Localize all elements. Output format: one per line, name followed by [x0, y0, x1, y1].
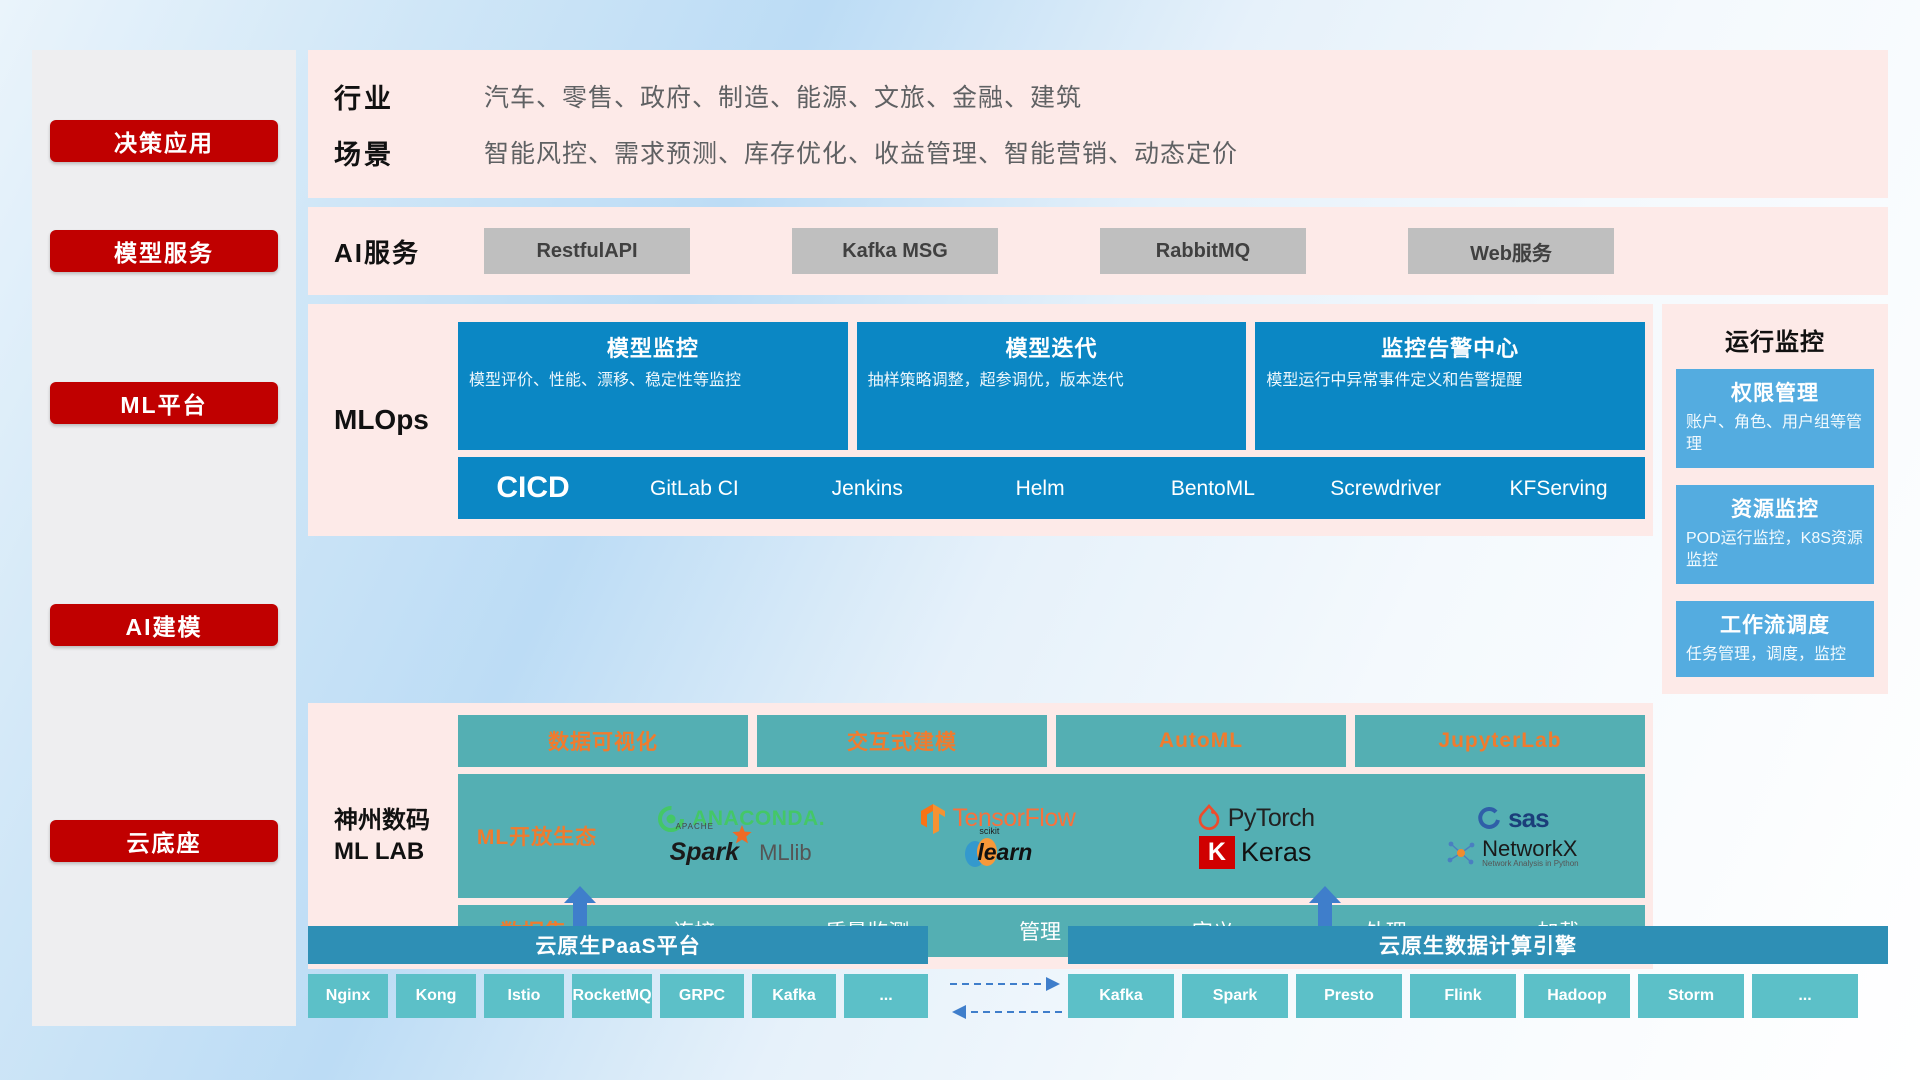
cicd-bar: CICD GitLab CI Jenkins Helm BentoML Scre…: [458, 457, 1645, 519]
mlops-band: MLOps 模型监控 模型评价、性能、漂移、稳定性等监控 模型迭代 抽样策略调整…: [308, 304, 1653, 536]
mlops-card-list: 模型监控 模型评价、性能、漂移、稳定性等监控 模型迭代 抽样策略调整，超参调优，…: [458, 322, 1645, 450]
stage-button-decision-app[interactable]: 决策应用: [50, 120, 278, 162]
sas-mark-icon: [1476, 806, 1502, 832]
runtime-monitor-rail: 运行监控 权限管理 账户、角色、用户组等管理 资源监控 POD运行监控，K8S资…: [1662, 304, 1888, 694]
scenario-row: 场景 智能风控、需求预测、库存优化、收益管理、智能营销、动态定价: [334, 124, 1862, 180]
monitor-card-resource[interactable]: 资源监控 POD运行监控，K8S资源监控: [1676, 485, 1874, 584]
paas-chip-grpc[interactable]: GRPC: [660, 974, 744, 1018]
engine-title-bar: 云原生数据计算引擎: [1068, 926, 1888, 964]
cicd-title: CICD: [458, 471, 608, 505]
tool-chip-data-visualization[interactable]: 数据可视化: [458, 715, 748, 767]
ml-platform-row: MLOps 模型监控 模型评价、性能、漂移、稳定性等监控 模型迭代 抽样策略调整…: [308, 304, 1888, 694]
mlops-card-alert-center[interactable]: 监控告警中心 模型运行中异常事件定义和告警提醒: [1255, 322, 1645, 450]
tensorflow-mark-icon: [920, 803, 946, 835]
mlops-content: 模型监控 模型评价、性能、漂移、稳定性等监控 模型迭代 抽样策略调整，超参调优，…: [458, 322, 1653, 519]
card-title: 权限管理: [1686, 377, 1864, 407]
cicd-item-jenkins[interactable]: Jenkins: [781, 476, 954, 499]
ml-lab-label: 神州数码 ML LAB: [308, 805, 458, 867]
cicd-item-kfserving[interactable]: KFServing: [1472, 476, 1645, 499]
sas-logo: sas: [1476, 803, 1548, 834]
tensorflow-wordmark: TensorFlow: [952, 804, 1075, 833]
industry-label: 行业: [334, 77, 484, 116]
runtime-monitor-title: 运行监控: [1662, 304, 1888, 369]
tool-chip-interactive-modeling[interactable]: 交互式建模: [757, 715, 1047, 767]
scenario-label: 场景: [334, 133, 484, 172]
card-desc: 模型评价、性能、漂移、稳定性等监控: [469, 370, 837, 393]
paas-chip-rocketmq[interactable]: RocketMQ: [572, 974, 652, 1018]
scenario-values: 智能风控、需求预测、库存优化、收益管理、智能营销、动态定价: [484, 134, 1238, 170]
card-title: 模型迭代: [868, 331, 1236, 363]
keras-wordmark: Keras: [1241, 837, 1312, 868]
paas-group: 云原生PaaS平台 Nginx Kong Istio RocketMQ GRPC…: [308, 926, 928, 1018]
decision-app-band: 行业 汽车、零售、政府、制造、能源、文旅、金融、建筑 场景 智能风控、需求预测、…: [308, 50, 1888, 198]
tool-chip-automl[interactable]: AutoML: [1056, 715, 1346, 767]
stage-button-ai-modeling[interactable]: AI建模: [50, 604, 278, 646]
stage-button-ml-platform[interactable]: ML平台: [50, 382, 278, 424]
ml-open-ecosystem-label: ML开放生态: [462, 821, 612, 851]
paas-up-arrow-icon: [563, 886, 597, 930]
card-desc: 模型运行中异常事件定义和告警提醒: [1266, 370, 1634, 393]
paas-chip-row: Nginx Kong Istio RocketMQ GRPC Kafka ...: [308, 974, 928, 1018]
ai-service-band: AI服务 RestfulAPI Kafka MSG RabbitMQ Web服务: [308, 207, 1888, 295]
ai-service-chip-list: RestfulAPI Kafka MSG RabbitMQ Web服务: [484, 228, 1862, 274]
cicd-item-bentoml[interactable]: BentoML: [1126, 476, 1299, 499]
paas-chip-more[interactable]: ...: [844, 974, 928, 1018]
learn-wordmark: learn: [977, 839, 1032, 865]
paas-chip-kong[interactable]: Kong: [396, 974, 476, 1018]
monitor-card-permission[interactable]: 权限管理 账户、角色、用户组等管理: [1676, 369, 1874, 468]
industry-values: 汽车、零售、政府、制造、能源、文旅、金融、建筑: [484, 78, 1082, 114]
paas-title-bar: 云原生PaaS平台: [308, 926, 928, 964]
card-desc: POD运行监控，K8S资源监控: [1686, 528, 1864, 573]
cicd-item-screwdriver[interactable]: Screwdriver: [1299, 476, 1472, 499]
engine-chip-presto[interactable]: Presto: [1296, 974, 1402, 1018]
pytorch-flame-icon: [1196, 804, 1222, 834]
service-chip-rabbitmq[interactable]: RabbitMQ: [1100, 228, 1306, 274]
keras-logo: K Keras: [1199, 836, 1312, 869]
stage-button-model-service[interactable]: 模型服务: [50, 230, 278, 272]
engine-chip-row: Kafka Spark Presto Flink Hadoop Storm ..…: [1068, 974, 1888, 1018]
engine-chip-storm[interactable]: Storm: [1638, 974, 1744, 1018]
engine-up-arrow-icon: [1308, 886, 1342, 930]
modeling-tool-row: 数据可视化 交互式建模 AutoML JupyterLab: [458, 715, 1645, 767]
left-stage-rail: 决策应用 模型服务 ML平台 AI建模 云底座: [32, 50, 296, 1026]
sas-wordmark: sas: [1508, 803, 1548, 834]
networkx-logo: NetworkX Network Analysis in Python: [1446, 837, 1579, 868]
ml-open-ecosystem-row: ML开放生态 ANACONDA.: [458, 774, 1645, 898]
ml-lab-label-line2: ML LAB: [334, 836, 458, 867]
cloud-base-section: 云原生PaaS平台 Nginx Kong Istio RocketMQ GRPC…: [308, 886, 1888, 1026]
bidirectional-dashed-arrows: [946, 972, 1066, 1024]
spark-wordmark: Spark: [670, 838, 739, 866]
service-chip-web[interactable]: Web服务: [1408, 228, 1614, 274]
card-title: 模型监控: [469, 331, 837, 363]
ai-service-label: AI服务: [334, 233, 484, 270]
tool-chip-jupyterlab[interactable]: JupyterLab: [1355, 715, 1645, 767]
card-desc: 抽样策略调整，超参调优，版本迭代: [868, 370, 1236, 393]
networkx-tagline: Network Analysis in Python: [1482, 860, 1579, 868]
cicd-item-gitlab-ci[interactable]: GitLab CI: [608, 476, 781, 499]
cicd-item-helm[interactable]: Helm: [954, 476, 1127, 499]
card-title: 监控告警中心: [1266, 331, 1634, 363]
paas-chip-nginx[interactable]: Nginx: [308, 974, 388, 1018]
card-desc: 任务管理，调度，监控: [1686, 644, 1864, 666]
spark-star-icon: [731, 824, 753, 846]
service-chip-kafka-msg[interactable]: Kafka MSG: [792, 228, 998, 274]
ecosystem-logo-grid: ANACONDA. TensorFlow: [612, 802, 1641, 870]
card-desc: 账户、角色、用户组等管理: [1686, 412, 1864, 457]
engine-chip-hadoop[interactable]: Hadoop: [1524, 974, 1630, 1018]
industry-row: 行业 汽车、零售、政府、制造、能源、文旅、金融、建筑: [334, 68, 1862, 124]
paas-chip-kafka[interactable]: Kafka: [752, 974, 836, 1018]
pytorch-wordmark: PyTorch: [1228, 804, 1315, 833]
engine-chip-more[interactable]: ...: [1752, 974, 1858, 1018]
engine-chip-kafka[interactable]: Kafka: [1068, 974, 1174, 1018]
paas-chip-istio[interactable]: Istio: [484, 974, 564, 1018]
scikit-tag: scikit: [979, 826, 999, 836]
mlops-card-model-iteration[interactable]: 模型迭代 抽样策略调整，超参调优，版本迭代: [857, 322, 1247, 450]
service-chip-restfulapi[interactable]: RestfulAPI: [484, 228, 690, 274]
pytorch-logo: PyTorch: [1196, 804, 1315, 834]
monitor-card-workflow[interactable]: 工作流调度 任务管理，调度，监控: [1676, 601, 1874, 677]
card-title: 工作流调度: [1686, 609, 1864, 639]
networkx-wordmark: NetworkX: [1482, 837, 1579, 860]
card-title: 资源监控: [1686, 493, 1864, 523]
mlops-label: MLOps: [308, 404, 458, 436]
mlops-card-model-monitor[interactable]: 模型监控 模型评价、性能、漂移、稳定性等监控: [458, 322, 848, 450]
engine-chip-flink[interactable]: Flink: [1410, 974, 1516, 1018]
spark-mllib-logo: APACHE Spark MLlib: [670, 838, 812, 867]
mllib-wordmark: MLlib: [759, 840, 812, 866]
engine-group: 云原生数据计算引擎 Kafka Spark Presto Flink Hadoo…: [1068, 926, 1888, 1018]
architecture-main: 行业 汽车、零售、政府、制造、能源、文旅、金融、建筑 场景 智能风控、需求预测、…: [308, 50, 1888, 969]
stage-button-cloud-base[interactable]: 云底座: [50, 820, 278, 862]
ml-lab-label-line1: 神州数码: [334, 805, 458, 836]
engine-chip-spark[interactable]: Spark: [1182, 974, 1288, 1018]
keras-mark-icon: K: [1199, 836, 1235, 869]
networkx-graph-icon: [1446, 838, 1476, 868]
scikit-learn-logo: scikit learn: [963, 836, 1032, 870]
apache-tag: APACHE: [676, 822, 714, 831]
